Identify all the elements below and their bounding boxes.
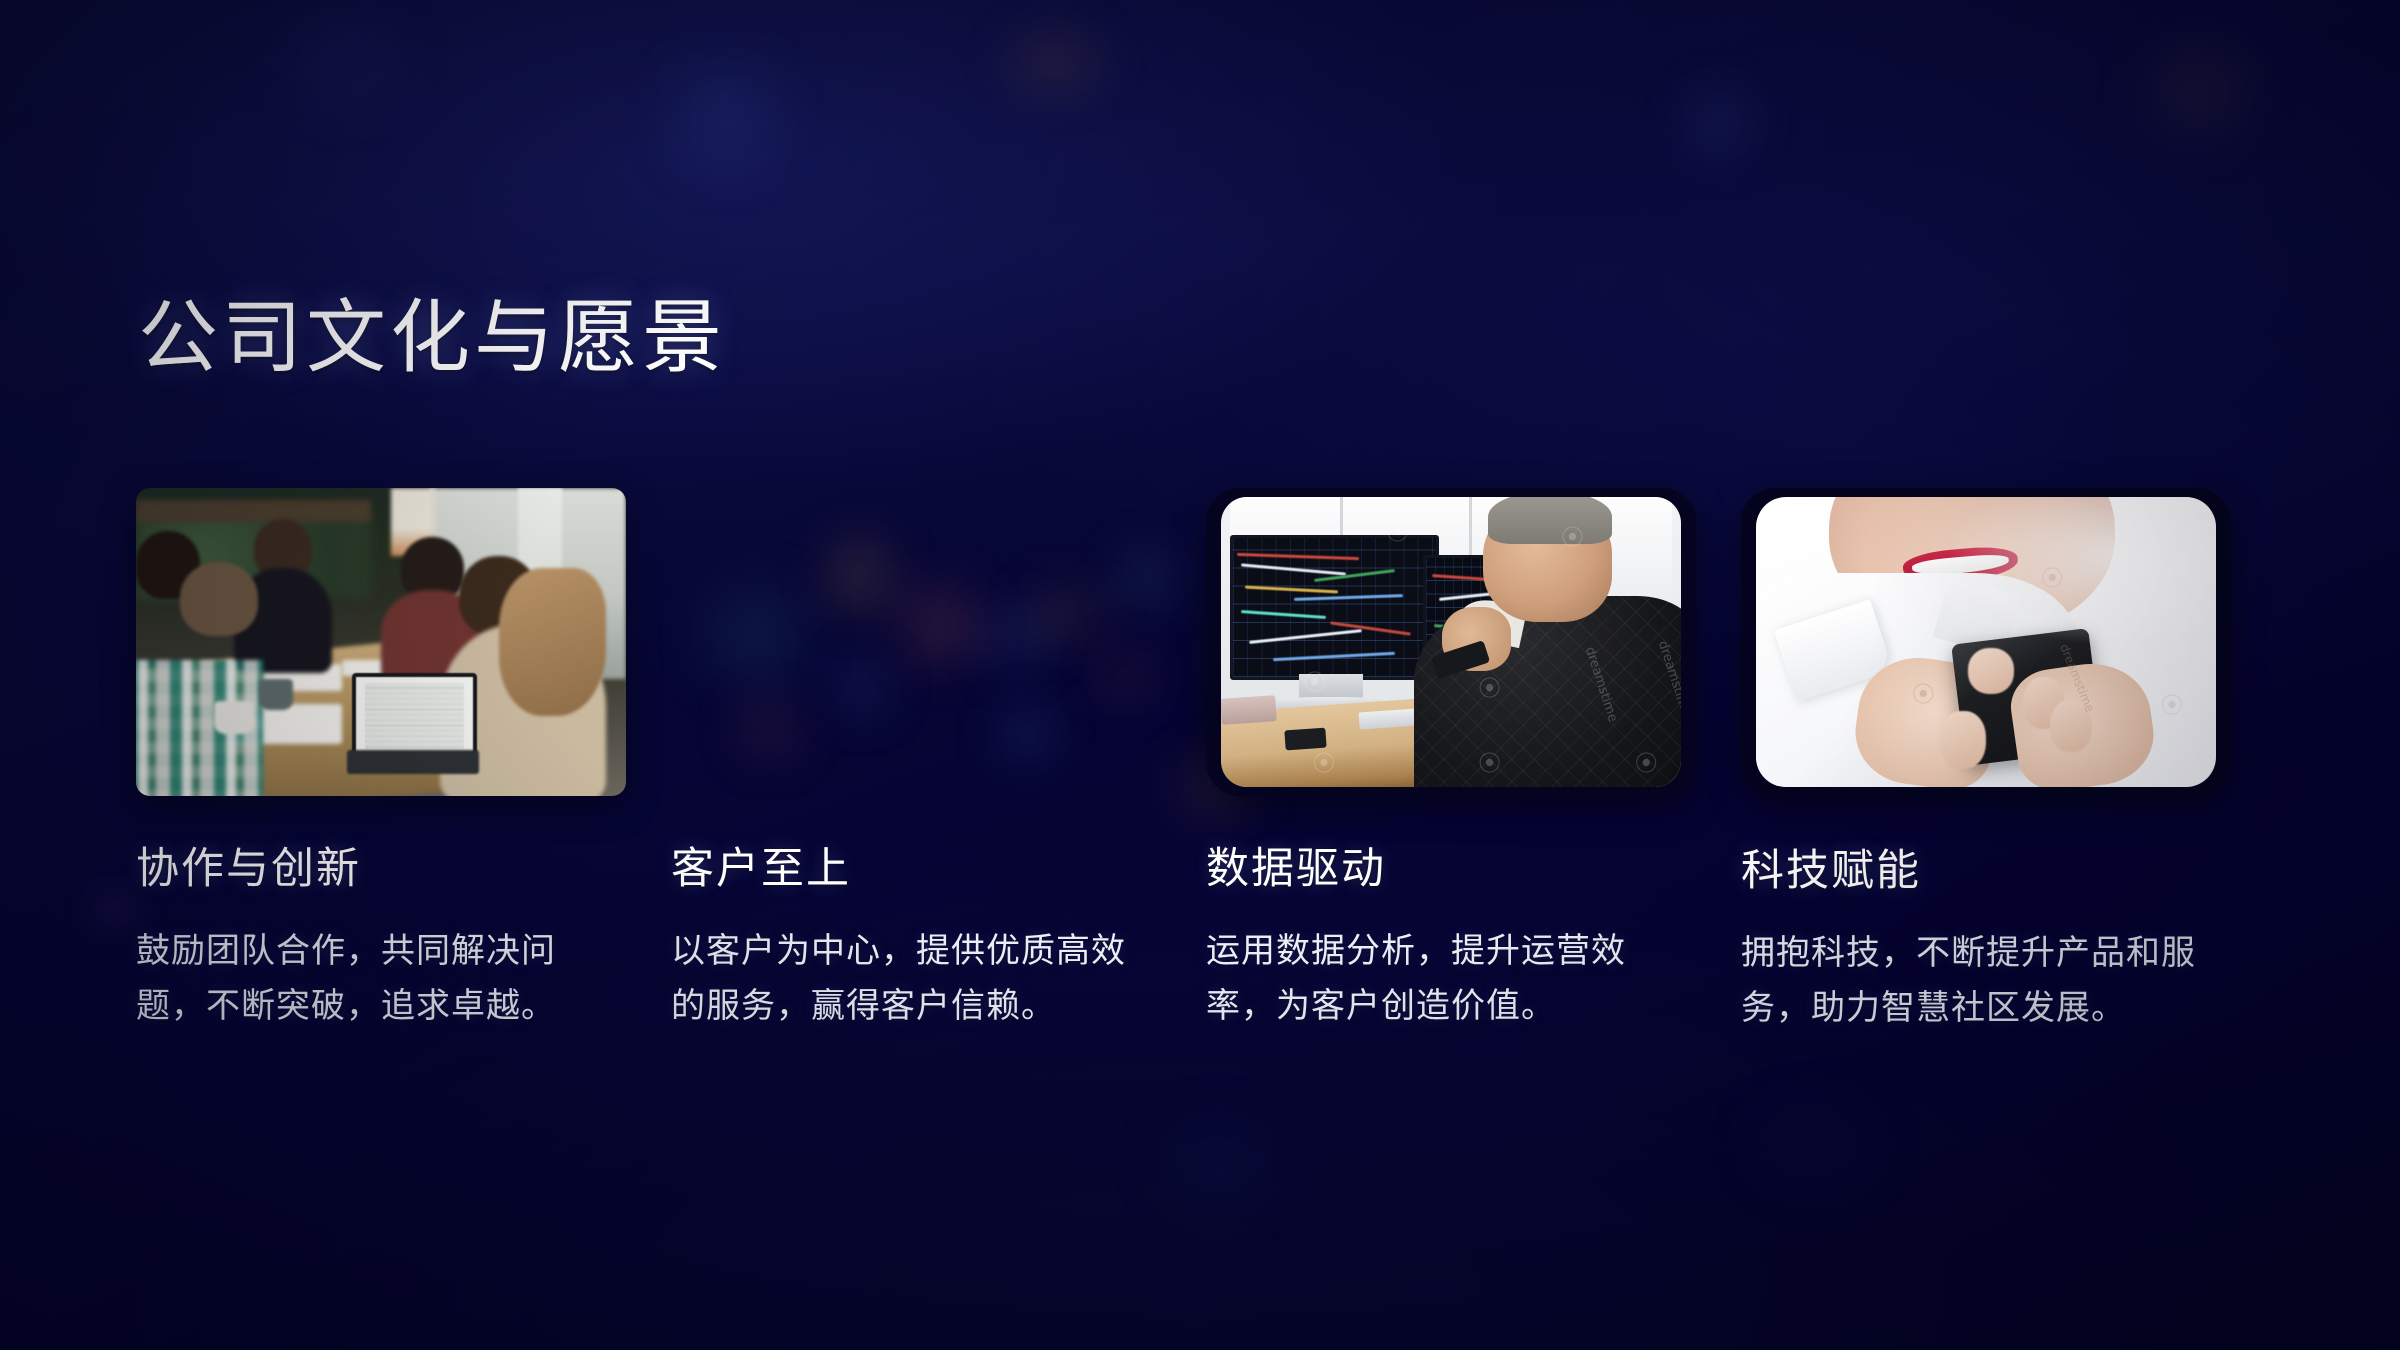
watermark-icon: ⦿: [1304, 665, 1326, 697]
watermark-icon: ⦿: [2161, 688, 2183, 720]
watermark-icon: ⦿: [1387, 515, 1409, 547]
culture-card-grid: 协作与创新 鼓励团队合作，共同解决问题，不断突破，追求卓越。 客户至上 以客户为…: [136, 488, 2276, 1036]
watermark-icon: ⦿: [2041, 561, 2063, 593]
watermark-icon: ⦿: [1479, 671, 1501, 703]
slide-canvas: 公司文化与愿景: [0, 0, 2400, 1350]
culture-card[interactable]: ⦿ ⦿ ⦿ dreamstime 科技赋能 拥抱科技，不断提升产品和服务，助力智…: [1741, 488, 2276, 1036]
card-body-text: 拥抱科技，不断提升产品和服务，助力智慧社区发展。: [1741, 926, 2219, 1036]
card-heading: 客户至上: [671, 844, 1161, 896]
watermark-icon: ⦿: [1313, 746, 1335, 778]
culture-card[interactable]: ⦿ ⦿ ⦿ ⦿ ⦿ ⦿ ⦿ dreamstime dreamstime 数据驱动…: [1206, 488, 1741, 1036]
page-title: 公司文化与愿景: [138, 295, 726, 383]
culture-card[interactable]: 客户至上 以客户为中心，提供优质高效的服务，赢得客户信赖。: [671, 488, 1206, 1036]
card-heading: 协作与创新: [136, 844, 626, 896]
card-body-text: 鼓励团队合作，共同解决问题，不断突破，追求卓越。: [136, 924, 614, 1034]
photo-content: ⦿ ⦿ ⦿ ⦿ ⦿ ⦿ ⦿ dreamstime dreamstime: [1221, 497, 1682, 787]
watermark-icon: ⦿: [1562, 520, 1584, 552]
team-meeting-photo: [136, 488, 626, 796]
culture-card[interactable]: 协作与创新 鼓励团队合作，共同解决问题，不断突破，追求卓越。: [136, 488, 671, 1036]
card-heading: 科技赋能: [1741, 846, 2231, 898]
card-heading: 数据驱动: [1206, 844, 1696, 896]
customer-service-photo: [671, 488, 1161, 796]
photo-content: ⦿ ⦿ ⦿ dreamstime: [1756, 497, 2217, 787]
watermark-icon: ⦿: [1635, 746, 1657, 778]
data-analysis-photo: ⦿ ⦿ ⦿ ⦿ ⦿ ⦿ ⦿ dreamstime dreamstime: [1206, 488, 1696, 796]
photo-content: [136, 488, 626, 796]
watermark-icon: ⦿: [1479, 746, 1501, 778]
mobile-technology-photo: ⦿ ⦿ ⦿ dreamstime: [1741, 488, 2231, 796]
card-body-text: 以客户为中心，提供优质高效的服务，赢得客户信赖。: [671, 924, 1149, 1034]
card-body-text: 运用数据分析，提升运营效率，为客户创造价值。: [1206, 924, 1684, 1034]
watermark-icon: ⦿: [1912, 677, 1934, 709]
